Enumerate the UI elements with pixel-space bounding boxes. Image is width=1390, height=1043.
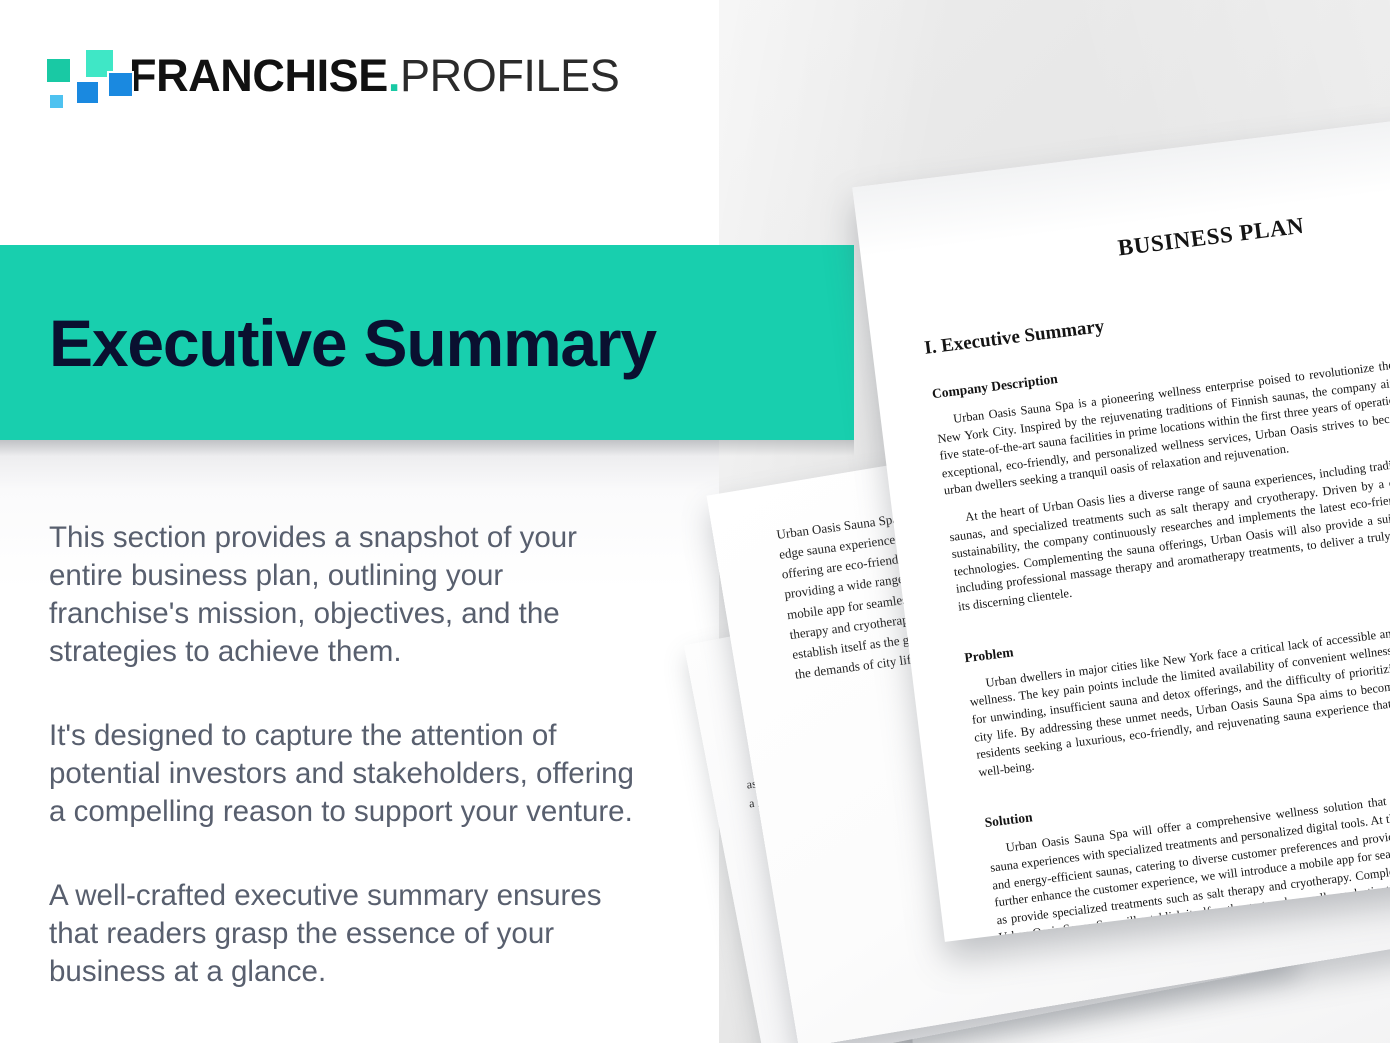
brand-logo[interactable]: FRANCHISE.PROFILES	[45, 42, 619, 108]
logo-square-lightblue-icon	[48, 93, 65, 110]
body-copy: This section provides a snapshot of your…	[49, 519, 649, 991]
document-page-content: BUSINESS PLAN I. Executive Summary Compa…	[852, 102, 1390, 942]
logo-square-blue-right-icon	[107, 71, 134, 98]
slide-canvas: FRANCHISE.PROFILES Executive Summary Thi…	[0, 0, 1390, 1043]
logo-wordmark: FRANCHISE.PROFILES	[129, 53, 619, 98]
body-paragraph-2: It's designed to capture the attention o…	[49, 717, 649, 831]
page-title: Executive Summary	[49, 305, 656, 381]
document-title: BUSINESS PLAN	[908, 187, 1390, 287]
logo-square-blue-mid-icon	[75, 80, 100, 105]
logo-squares-icon	[45, 48, 107, 102]
logo-word-dot: .	[388, 50, 400, 101]
body-paragraph-3: A well-crafted executive summary ensures…	[49, 877, 649, 991]
document-sheet-front: BUSINESS PLAN I. Executive Summary Compa…	[852, 102, 1390, 942]
document-stack-image: urban wellness ... demands of city life.…	[700, 120, 1390, 1043]
body-paragraph-1: This section provides a snapshot of your…	[49, 519, 649, 671]
logo-word-profiles: PROFILES	[400, 50, 619, 101]
logo-square-teal-icon	[45, 57, 72, 84]
logo-word-franchise: FRANCHISE	[129, 50, 388, 101]
